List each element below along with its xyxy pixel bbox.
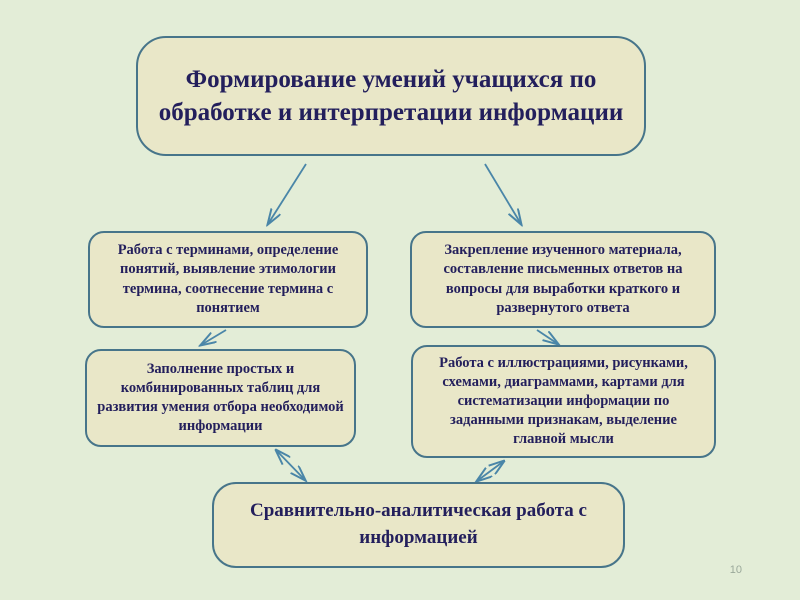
slide-page-number: 10 (730, 564, 742, 576)
connector-illustrations-to-analytical (477, 461, 504, 481)
node-text-analytical: Сравнительно-аналитическая работа с инфо… (224, 498, 613, 551)
node-text-tables: Заполнение простых и комбинированных таб… (97, 360, 344, 437)
connector-title-to-consolidation (485, 164, 521, 224)
node-text-consolidation: Закрепление изученного материала, состав… (422, 241, 704, 318)
connector-terms-to-tables (201, 330, 226, 345)
diagram-title-text: Формирование умений учащихся по обработк… (148, 63, 634, 130)
node-box-illustrations: Работа с иллюстрациями, рисунками, схема… (411, 345, 716, 458)
diagram-title-box: Формирование умений учащихся по обработк… (136, 36, 646, 156)
node-box-tables: Заполнение простых и комбинированных таб… (85, 349, 356, 447)
node-box-analytical: Сравнительно-аналитическая работа с инфо… (212, 482, 625, 568)
connector-tables-to-analytical (276, 450, 305, 480)
connector-title-to-terms (268, 164, 306, 224)
connector-consolidation-to-illustrations (537, 330, 558, 344)
slide-canvas: Формирование умений учащихся по обработк… (0, 0, 800, 600)
node-text-illustrations: Работа с иллюстрациями, рисунками, схема… (423, 354, 704, 450)
node-box-consolidation: Закрепление изученного материала, состав… (410, 231, 716, 328)
node-text-terms: Работа с терминами, определение понятий,… (100, 241, 356, 318)
node-box-terms: Работа с терминами, определение понятий,… (88, 231, 368, 328)
